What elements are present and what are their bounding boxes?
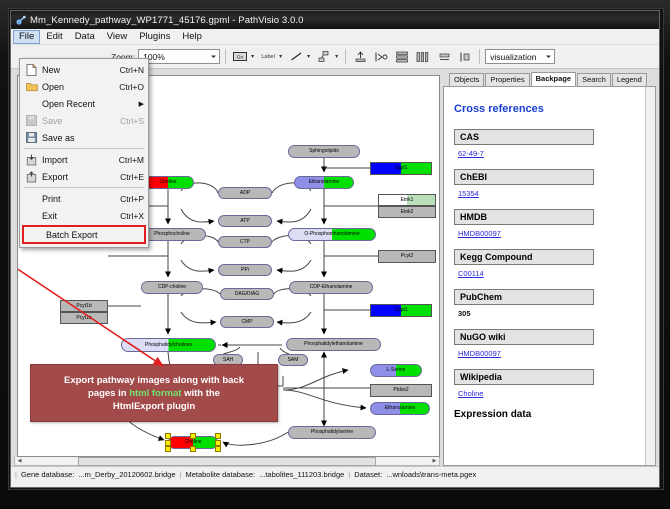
- pathway-node-cdp-choline[interactable]: CDP-choline: [141, 281, 203, 294]
- pathway-node-label: PPi: [241, 268, 249, 273]
- pathway-node-ethanolamine-top[interactable]: Ethanolamine: [294, 176, 354, 189]
- pathway-node-cdp-ethanolamine[interactable]: CDP-Ethanolamine: [289, 281, 373, 294]
- title-bar: Mm_Kennedy_pathway_WP1771_45176.gpml - P…: [11, 11, 659, 29]
- pathway-node-label: Choline: [160, 180, 177, 185]
- pathway-node-etnk1[interactable]: Etnk1: [378, 194, 436, 206]
- datanode-tool-group[interactable]: Gn ▾: [231, 48, 256, 66]
- xref-link[interactable]: C00114: [458, 269, 484, 278]
- xref-link[interactable]: HMDB00097: [458, 229, 501, 238]
- align-left-icon[interactable]: [372, 48, 390, 66]
- xref-label-nugo-wiki: NuGO wiki: [454, 329, 594, 345]
- side-panel-tabs: Objects Properties Backpage Search Legen…: [443, 72, 656, 86]
- file-menu-item-label: Import: [39, 155, 113, 165]
- xref-label-pubchem: PubChem: [454, 289, 594, 305]
- chevron-right-icon: ▶: [139, 100, 144, 108]
- file-menu-item-exit[interactable]: ExitCtrl+X: [20, 207, 148, 224]
- pathway-node-ptdss2[interactable]: Ptdss2: [370, 384, 432, 397]
- pathway-node-cmp[interactable]: CMP: [220, 316, 274, 328]
- pathway-node-label: ATP: [240, 219, 249, 224]
- pathway-node-phosphatidylcholines[interactable]: Phosphatidylcholines: [121, 338, 216, 352]
- file-menu-item-export[interactable]: ExportCtrl+E: [20, 168, 148, 185]
- file-menu-item-label: Open Recent: [39, 99, 139, 109]
- status-bar: | Gene database: ...m_Derby_20120602.bri…: [11, 466, 659, 481]
- pathway-node-label: Pcyt2: [401, 254, 414, 259]
- pathway-node-label: L-Serine: [387, 368, 406, 373]
- xref-label-hmdb: HMDB: [454, 209, 594, 225]
- zoom-combobox[interactable]: 100%: [138, 49, 220, 64]
- expression-data-heading: Expression data: [454, 409, 645, 420]
- menu-file[interactable]: File: [13, 30, 40, 44]
- pathway-node-phosphatidylethanolamine[interactable]: Phosphatidylethanolamine: [286, 338, 381, 351]
- file-menu-item-label: Save: [39, 116, 114, 126]
- status-gene-db-label: Gene database:: [21, 470, 74, 479]
- label-tool-group[interactable]: Label ▾: [259, 48, 284, 66]
- file-menu-item-open[interactable]: OpenCtrl+O: [20, 78, 148, 95]
- pathway-node-dag-diag[interactable]: DAG/DIAG: [220, 288, 274, 300]
- file-menu-item-label: Print: [39, 194, 114, 204]
- file-menu-item-accelerator: Ctrl+M: [113, 155, 144, 165]
- pathway-node-o-phosphoethanolamine[interactable]: O-Phosphoethanolamine: [288, 228, 376, 241]
- side-panel: Objects Properties Backpage Search Legen…: [443, 72, 656, 466]
- selection-handle-3[interactable]: [165, 440, 171, 446]
- screenshot-root: Mm_Kennedy_pathway_WP1771_45176.gpml - P…: [0, 0, 670, 509]
- visualization-value: visualization: [490, 52, 536, 62]
- pathway-node-adp[interactable]: ADP: [218, 187, 272, 199]
- stack-rows-icon[interactable]: [393, 48, 411, 66]
- cross-references-heading: Cross references: [454, 103, 645, 115]
- save-as-icon: [24, 132, 39, 143]
- xref-value-nugo-wiki[interactable]: HMDB00097: [458, 349, 645, 358]
- pathway-node-label: SAM: [288, 358, 299, 363]
- file-menu-item-print[interactable]: PrintCtrl+P: [20, 190, 148, 207]
- datanode-tool-icon[interactable]: Gn: [231, 48, 249, 66]
- selection-handle-7[interactable]: [215, 446, 221, 452]
- toolbar-separator-2: [345, 49, 346, 64]
- save-disabled-icon: [24, 115, 39, 126]
- menu-help[interactable]: Help: [176, 30, 208, 44]
- canvas-horizontal-scrollbar[interactable]: ◀ ▶: [14, 457, 440, 466]
- chevron-down-icon: [210, 52, 217, 62]
- file-menu-item-accelerator: Ctrl+N: [114, 65, 144, 75]
- pathway-node-label: Ptdss2: [393, 388, 408, 393]
- file-menu-item-open-recent[interactable]: Open Recent▶: [20, 95, 148, 112]
- same-height-icon[interactable]: [456, 48, 474, 66]
- annotation-line2-pre: pages in: [88, 388, 129, 399]
- annotation-line1: Export pathway images along with back: [64, 375, 244, 386]
- xref-label-kegg-compound: Kegg Compound: [454, 249, 594, 265]
- file-menu-item-save: SaveCtrl+S: [20, 112, 148, 129]
- toolbar-separator: [225, 49, 226, 64]
- label-tool-text: Label: [261, 54, 274, 60]
- pathway-node-cept1[interactable]: Cept1: [370, 304, 432, 317]
- file-menu-item-label: Export: [39, 172, 114, 182]
- xref-value-hmdb[interactable]: HMDB00097: [458, 229, 645, 238]
- pathway-node-label: Sgpl1: [395, 166, 408, 171]
- pathway-node-ctp[interactable]: CTP: [218, 236, 272, 248]
- file-menu-separator: [24, 187, 144, 188]
- pathway-node-choline-top[interactable]: Choline: [142, 176, 194, 189]
- menu-bar: File Edit Data View Plugins Help: [11, 29, 659, 45]
- pathvisio-window: Mm_Kennedy_pathway_WP1771_45176.gpml - P…: [10, 10, 660, 488]
- window-title: Mm_Kennedy_pathway_WP1771_45176.gpml - P…: [30, 15, 304, 26]
- selection-handle-0[interactable]: [165, 433, 171, 439]
- xref-value-kegg-compound[interactable]: C00114: [458, 269, 645, 278]
- file-menu-item-accelerator: Ctrl+O: [113, 82, 144, 92]
- selection-handle-5[interactable]: [165, 446, 171, 452]
- pathway-node-pcyt1b[interactable]: Pcyt1b: [60, 300, 108, 312]
- pathway-node-label: Etnk1: [401, 198, 414, 203]
- status-sep-0: |: [15, 470, 17, 479]
- toolbar-separator-3: [479, 49, 480, 64]
- file-menu-item-accelerator: Ctrl+E: [114, 172, 144, 182]
- pathway-node-phosphatidylserine[interactable]: Phosphatidylserine: [288, 426, 376, 439]
- annotation-callout: Export pathway images along with back pa…: [30, 364, 278, 422]
- pathway-node-ppi[interactable]: PPi: [218, 264, 272, 276]
- stack-columns-icon[interactable]: [414, 48, 432, 66]
- tab-properties[interactable]: Properties: [485, 73, 529, 86]
- xref-label-cas: CAS: [454, 129, 594, 145]
- pathway-node-label: Phosphatidylserine: [311, 430, 353, 435]
- xref-link[interactable]: HMDB00097: [458, 349, 501, 358]
- same-width-icon[interactable]: [435, 48, 453, 66]
- file-menu-item-accelerator: Ctrl+X: [114, 211, 144, 221]
- pathway-node-label: CDP-Ethanolamine: [310, 285, 353, 290]
- annotation-line2-highlight: html format: [129, 388, 181, 399]
- status-gene-db-value: ...m_Derby_20120602.bridge: [78, 470, 175, 479]
- file-menu-item-import[interactable]: ImportCtrl+M: [20, 151, 148, 168]
- annotation-line3: HtmlExport plugin: [113, 401, 195, 412]
- file-menu-item-new[interactable]: NewCtrl+N: [20, 61, 148, 78]
- scroll-left-icon[interactable]: ◀: [15, 458, 24, 465]
- tab-objects[interactable]: Objects: [449, 73, 484, 86]
- pathway-node-label: Cept1: [394, 308, 407, 313]
- pathway-node-atp[interactable]: ATP: [218, 215, 272, 227]
- status-dataset-value: ...wnloads\trans-meta.pgex: [386, 470, 476, 479]
- chevron-down-icon-2: [545, 52, 552, 62]
- file-menu-item-accelerator: Ctrl+P: [114, 194, 144, 204]
- interaction-tool-group[interactable]: ▾: [315, 48, 340, 66]
- xref-link[interactable]: Choline: [458, 389, 483, 398]
- cross-references-list: CAS62-49-7ChEBI15354HMDBHMDB00097Kegg Co…: [454, 129, 645, 398]
- scroll-thumb[interactable]: [78, 457, 377, 466]
- xref-link[interactable]: 15354: [458, 189, 479, 198]
- pathway-node-label: Phosphatidylcholines: [145, 343, 192, 348]
- tab-backpage[interactable]: Backpage: [531, 72, 576, 86]
- file-menu-item-label: Batch Export: [43, 230, 140, 240]
- backpage-content: Cross references CAS62-49-7ChEBI15354HMD…: [443, 86, 656, 466]
- pathway-node-label: DAG/DIAG: [235, 292, 259, 297]
- line-tool-icon[interactable]: [287, 48, 305, 66]
- pathway-node-label: Phosphatidylethanolamine: [304, 342, 363, 347]
- pathway-node-label: Choline: [185, 440, 202, 445]
- visualization-combobox[interactable]: visualization: [485, 49, 555, 64]
- interaction-tool-icon[interactable]: [315, 48, 333, 66]
- file-menu-item-batch-export[interactable]: Batch Export: [22, 225, 146, 244]
- menu-plugins[interactable]: Plugins: [133, 30, 176, 44]
- xref-label-wikipedia: Wikipedia: [454, 369, 594, 385]
- file-menu-item-label: Exit: [39, 211, 114, 221]
- status-metabolite-db-label: Metabolite database:: [185, 470, 255, 479]
- pathway-node-label: CTP: [240, 240, 250, 245]
- pathway-node-sgpl1[interactable]: Sgpl1: [370, 162, 432, 175]
- xref-value-wikipedia[interactable]: Choline: [458, 389, 645, 398]
- pathway-node-sam[interactable]: SAM: [278, 354, 308, 366]
- pathway-node-etnk2[interactable]: Etnk2: [378, 206, 436, 218]
- pathway-node-pcyt1a[interactable]: Pcyt1a: [60, 312, 108, 324]
- xref-value-pubchem: 305: [458, 309, 645, 318]
- export-icon: [24, 171, 39, 183]
- file-menu-item-label: Open: [39, 82, 113, 92]
- pathway-node-label: CMP: [241, 320, 252, 325]
- annotation-line2-post: with the: [181, 388, 220, 399]
- status-metabolite-db-value: ...tabolites_111203.bridge: [259, 470, 344, 479]
- pathway-node-label: Phosphocholine: [154, 232, 190, 237]
- interaction-dropdown-caret[interactable]: ▾: [333, 53, 340, 60]
- pathway-node-label: Ethanolamine: [309, 180, 340, 185]
- pathway-node-label: Pcyt1b: [76, 304, 91, 309]
- tab-legend[interactable]: Legend: [612, 73, 647, 86]
- folder-open-icon: [24, 81, 39, 92]
- file-menu-item-accelerator: Ctrl+S: [114, 116, 144, 126]
- menu-edit[interactable]: Edit: [40, 30, 68, 44]
- pathvisio-app-icon: [15, 15, 26, 26]
- backpage-vertical-scrollbar[interactable]: [645, 87, 655, 465]
- import-icon: [24, 154, 39, 166]
- align-top-icon[interactable]: [351, 48, 369, 66]
- selection-handle-2[interactable]: [215, 433, 221, 439]
- pathway-node-label: Etnk2: [401, 210, 414, 215]
- pathway-node-label: CDP-choline: [158, 285, 186, 290]
- pathway-node-sphingolipids[interactable]: Sphingolipids: [288, 145, 360, 158]
- label-tool-icon[interactable]: Label: [259, 48, 277, 66]
- xref-value-cas[interactable]: 62-49-7: [458, 149, 645, 158]
- status-sep-1: |: [180, 470, 182, 479]
- pathway-node-label: Sphingolipids: [309, 149, 339, 154]
- status-dataset-label: Dataset:: [354, 470, 382, 479]
- pathway-node-label: Ethanolamine: [385, 406, 416, 411]
- selection-handle-4[interactable]: [215, 440, 221, 446]
- label-dropdown-caret[interactable]: ▾: [277, 53, 284, 60]
- scroll-right-icon[interactable]: ▶: [430, 458, 439, 465]
- datanode-dropdown-caret[interactable]: ▾: [249, 53, 256, 60]
- pathway-node-pcyt2[interactable]: Pcyt2: [378, 250, 436, 263]
- pathway-node-l-serine[interactable]: L-Serine: [370, 364, 422, 377]
- file-menu-item-save-as[interactable]: Save as: [20, 129, 148, 146]
- new-document-icon: [24, 64, 39, 76]
- xref-link[interactable]: 62-49-7: [458, 149, 484, 158]
- menu-data[interactable]: Data: [69, 30, 101, 44]
- pathway-node-ethanolamine-bottom[interactable]: Ethanolamine: [370, 402, 430, 415]
- pathway-node-label: Pcyt1a: [76, 316, 91, 321]
- line-dropdown-caret[interactable]: ▾: [305, 53, 312, 60]
- tab-search[interactable]: Search: [577, 73, 611, 86]
- pathway-node-label: ADP: [240, 191, 250, 196]
- xref-value-chebi[interactable]: 15354: [458, 189, 645, 198]
- pathway-node-label: SAH: [223, 358, 233, 363]
- file-menu-item-label: Save as: [39, 133, 144, 143]
- xref-label-chebi: ChEBI: [454, 169, 594, 185]
- line-tool-group[interactable]: ▾: [287, 48, 312, 66]
- svg-text:Gn: Gn: [237, 55, 244, 60]
- selection-handle-6[interactable]: [190, 446, 196, 452]
- file-menu-item-label: New: [39, 65, 114, 75]
- menu-view[interactable]: View: [101, 30, 133, 44]
- status-sep-2: |: [348, 470, 350, 479]
- pathway-node-label: O-Phosphoethanolamine: [304, 232, 359, 237]
- file-menu-separator: [24, 148, 144, 149]
- file-menu-dropdown[interactable]: NewCtrl+NOpenCtrl+OOpen Recent▶SaveCtrl+…: [19, 58, 149, 248]
